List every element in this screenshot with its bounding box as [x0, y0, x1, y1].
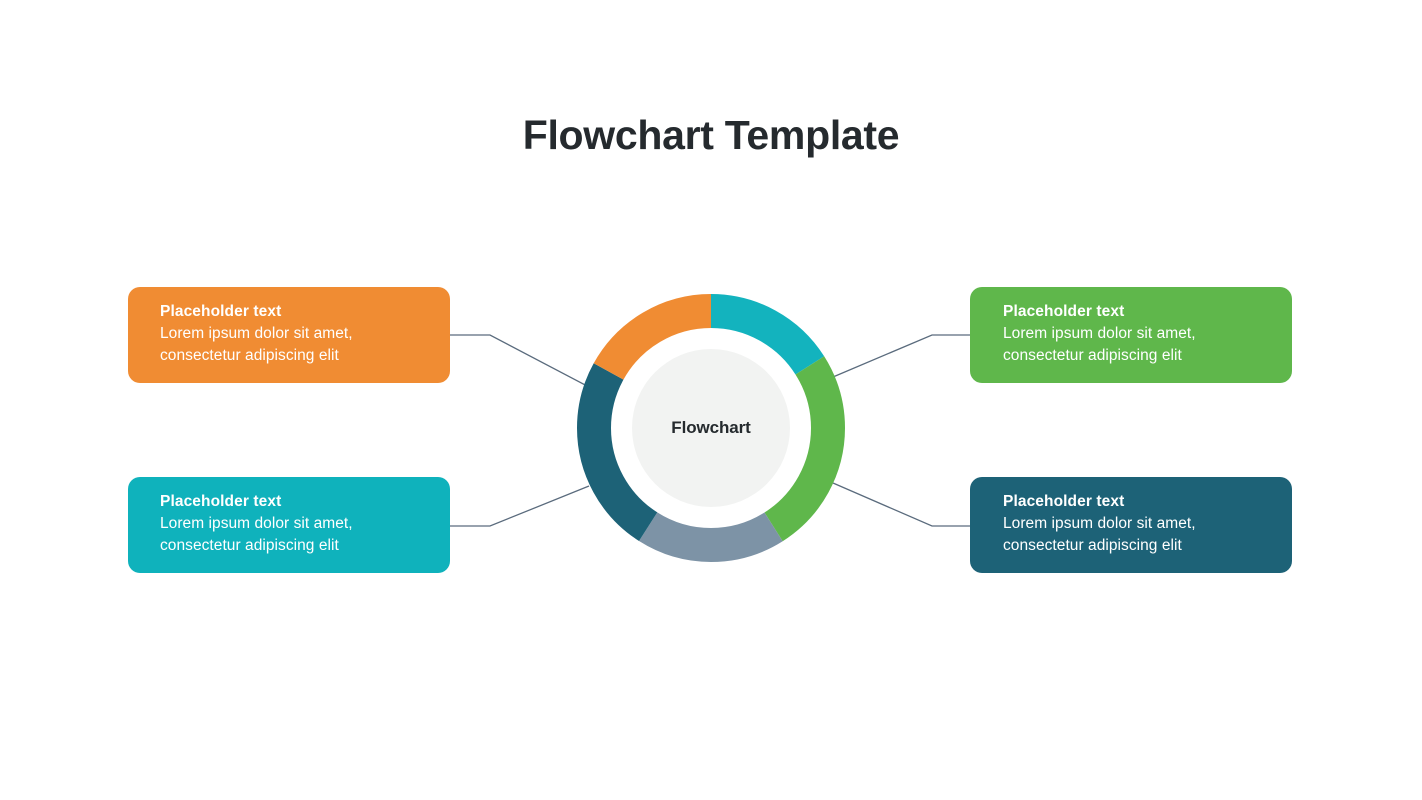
callout-top-left-body: Lorem ipsum dolor sit amet, consectetur … — [160, 323, 430, 367]
callout-top-right-title: Placeholder text — [1003, 301, 1272, 323]
slide-canvas: Flowchart Template Flowchart Placeholder… — [0, 0, 1422, 800]
callout-bottom-left-body: Lorem ipsum dolor sit amet, consectetur … — [160, 513, 430, 557]
callout-top-left[interactable]: Placeholder text Lorem ipsum dolor sit a… — [128, 287, 450, 383]
connector-bottom-right — [833, 483, 970, 526]
callout-bottom-right-body: Lorem ipsum dolor sit amet, consectetur … — [1003, 513, 1272, 557]
donut-chart: Flowchart — [577, 294, 845, 562]
connector-top-left — [450, 335, 589, 387]
page-title: Flowchart Template — [0, 107, 1422, 163]
connector-top-right — [833, 335, 970, 377]
callout-bottom-left-title: Placeholder text — [160, 491, 430, 513]
callout-top-left-title: Placeholder text — [160, 301, 430, 323]
callout-bottom-left[interactable]: Placeholder text Lorem ipsum dolor sit a… — [128, 477, 450, 573]
donut-center-label: Flowchart — [577, 294, 845, 562]
callout-bottom-right-title: Placeholder text — [1003, 491, 1272, 513]
callout-top-right[interactable]: Placeholder text Lorem ipsum dolor sit a… — [970, 287, 1292, 383]
callout-top-right-body: Lorem ipsum dolor sit amet, consectetur … — [1003, 323, 1272, 367]
connector-bottom-left — [450, 486, 589, 526]
callout-bottom-right[interactable]: Placeholder text Lorem ipsum dolor sit a… — [970, 477, 1292, 573]
